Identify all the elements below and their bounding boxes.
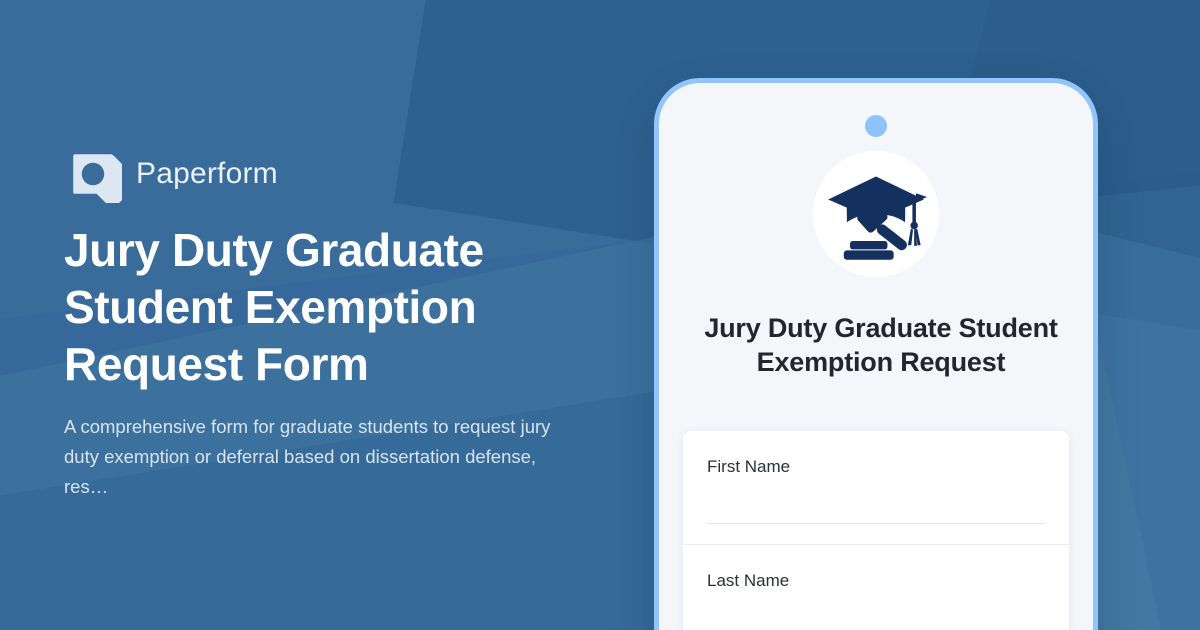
brand-lockup: Paperform — [64, 145, 278, 203]
brand-name: Paperform — [136, 157, 278, 191]
hero-content: Paperform Jury Duty Graduate Student Exe… — [64, 0, 604, 630]
field-label: First Name — [707, 457, 1045, 477]
field-label: Last Name — [707, 571, 1045, 591]
phone-mockup: Jury Duty Graduate Student Exemption Req… — [654, 78, 1098, 630]
form-field-last-name[interactable]: Last Name — [683, 545, 1069, 630]
field-underline — [707, 523, 1045, 524]
form-title: Jury Duty Graduate Student Exemption Req… — [693, 311, 1069, 379]
paperform-logo-icon — [64, 145, 122, 203]
share-card-canvas: Paperform Jury Duty Graduate Student Exe… — [0, 0, 1200, 630]
form-field-first-name[interactable]: First Name — [683, 431, 1069, 545]
form-card: First Name Last Name — [683, 431, 1069, 630]
form-avatar — [813, 151, 939, 277]
page-title: Jury Duty Graduate Student Exemption Req… — [64, 222, 564, 393]
camera-dot-icon — [865, 115, 887, 137]
page-description: A comprehensive form for graduate studen… — [64, 412, 564, 502]
graduation-cap-gavel-icon — [824, 162, 928, 266]
